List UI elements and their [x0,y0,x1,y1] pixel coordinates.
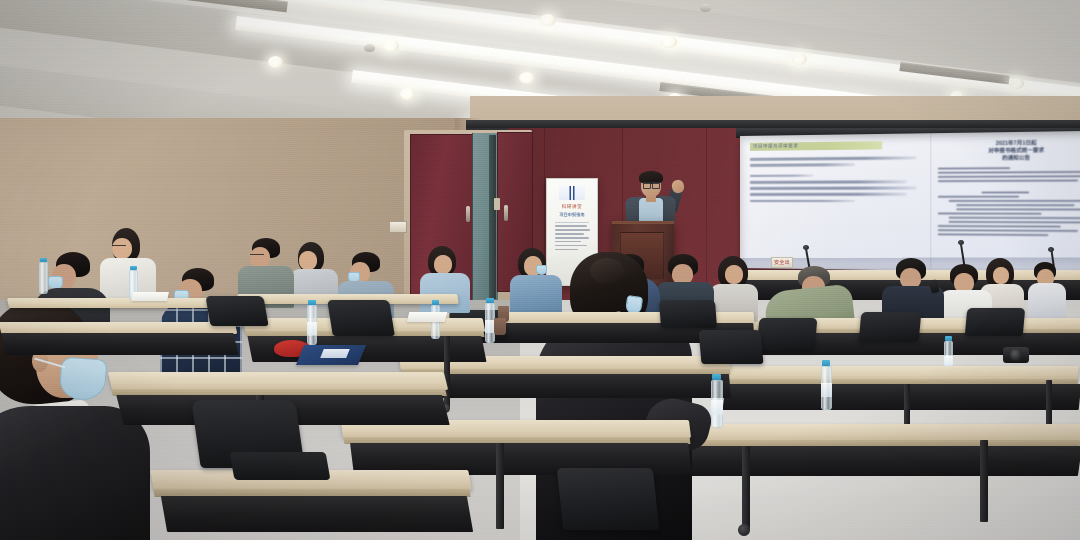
chair-backrest[interactable] [965,308,1025,336]
desk-top [7,298,231,308]
desk-top [715,366,1078,380]
coffee-cup [494,318,506,335]
desk-modesty-panel [723,384,1080,410]
slide-left-pane: 项目申报与评审要求 [740,133,930,270]
table-microphone-head [803,245,809,250]
university-emblem-icon [559,186,585,200]
paper-stack [131,292,169,301]
smoke-detector-icon [364,44,375,52]
chair-backrest[interactable] [859,312,922,342]
lecture-hall-photo: 项目申报与评审要求 2021年7月1日起 对申报书格式统一要求 的通知公告 [0,0,1080,540]
ceiling-downlight [540,14,556,26]
front-wall-trim [466,120,1080,128]
chair-seat[interactable] [230,452,331,480]
chair-backrest[interactable] [659,300,717,328]
desk-leg [444,336,450,408]
chair-backrest[interactable] [327,300,395,336]
door-opening-shadow [489,135,496,299]
ceiling-downlight [383,40,399,52]
chair-backrest[interactable] [757,318,818,350]
door-handle[interactable] [504,205,508,221]
desk-top [108,372,448,390]
black-blazer [0,406,150,540]
chair-backrest[interactable] [557,468,660,530]
ceiling-downlight [1010,78,1024,89]
chair-backrest[interactable] [205,296,268,326]
exit-sign: 安全出口 [771,257,793,268]
chair-backrest[interactable] [699,330,764,364]
projection-screen: 项目申报与评审要求 2021年7月1日起 对申报书格式统一要求 的通知公告 [740,131,1080,274]
poster-subtitle: 项目申报指南 [552,212,592,218]
slide-doc-heading: 2021年7月1日起 对申报书格式统一要求 的通知公告 [937,139,1080,162]
desk-modesty-panel [405,374,731,398]
slide-title-text: 项目申报与评审要求 [753,143,798,150]
desk-modesty-panel [161,496,473,532]
smoke-detector-icon [700,4,711,12]
folder-label [320,349,350,358]
ceiling-downlight [268,56,283,68]
ceiling-downlight [792,53,807,65]
paper-stack [407,312,447,322]
face-mask [536,265,547,275]
desk-leg [742,446,750,530]
ceiling-downlight [400,88,415,100]
door-handle[interactable] [466,206,470,222]
desk-leg [496,443,504,529]
eyeglasses-icon [250,254,264,257]
slide-title-bar: 项目申报与评审要求 [750,141,882,151]
poster-title: 科研讲堂 [552,204,592,210]
ceiling-downlight [519,72,535,84]
speaker-glasses-icon [642,182,660,186]
hair-bun [590,258,624,284]
door-push-plate[interactable] [494,198,500,210]
table-microphone-head [958,240,964,245]
table-microphone-head [1048,247,1054,252]
slide-right-pane: 2021年7月1日起 对申报书格式统一要求 的通知公告 [930,131,1080,274]
desk-top [675,424,1080,441]
camera-lens-icon [1010,349,1022,361]
desk-leg [980,440,988,522]
desk-modesty-panel [1,333,238,355]
eyeglasses-icon [112,245,126,248]
ceiling-downlight [661,36,677,48]
chair-caster [738,524,750,536]
wall-outlet[interactable] [389,221,407,233]
